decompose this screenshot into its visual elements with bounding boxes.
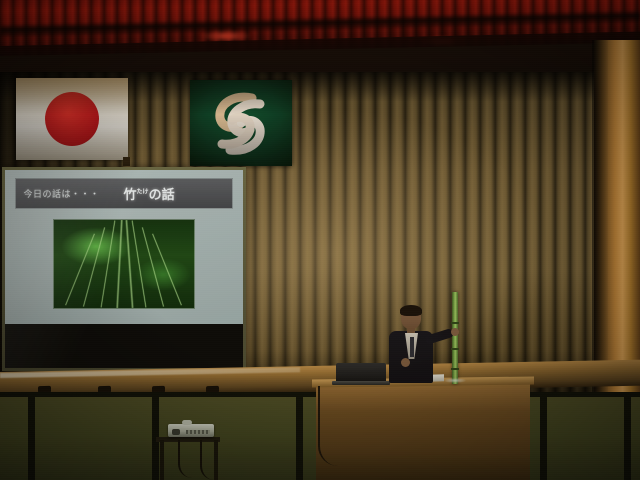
- laptop-base[interactable]: [332, 381, 390, 385]
- presenter-table: [316, 382, 530, 480]
- school-banner: [190, 80, 292, 166]
- projector-cable: [178, 440, 196, 478]
- wall-mullion: [540, 392, 547, 480]
- wall-mullion: [296, 392, 303, 480]
- japan-flag: [16, 78, 128, 160]
- laptop-screen[interactable]: [336, 363, 386, 382]
- proscenium-shadow: [592, 40, 608, 410]
- wall-mullion: [152, 392, 159, 480]
- projector-stand-leg: [160, 440, 164, 480]
- projector-lens-icon: [172, 429, 180, 435]
- bamboo-stalk: [452, 292, 458, 384]
- bamboo-node: [451, 348, 459, 350]
- flag-mount: [123, 157, 130, 166]
- screen-surface: 今日の話は・・・ 竹たけの話: [5, 170, 243, 368]
- auditorium-scene: 今日の話は・・・ 竹たけの話: [0, 0, 640, 480]
- projector-cable: [200, 440, 224, 480]
- wall-mullion: [28, 392, 35, 480]
- screen-sheen: [5, 170, 243, 368]
- banner-shading: [190, 80, 292, 166]
- presenter: [383, 306, 441, 384]
- presenter-hand-holding-bamboo: [451, 328, 459, 336]
- projection-screen: 今日の話は・・・ 竹たけの話: [2, 167, 246, 371]
- bamboo-base-highlight: [444, 378, 466, 383]
- projector-knob: [182, 420, 192, 425]
- projector-vent: [186, 430, 210, 434]
- wall-mullion: [624, 392, 631, 480]
- flag-shading: [16, 78, 128, 160]
- presenter-tie: [410, 337, 414, 357]
- table-cable: [318, 386, 344, 466]
- presenter-hair: [400, 305, 422, 316]
- presenter-hand: [401, 358, 410, 367]
- bamboo-node: [451, 368, 459, 370]
- bamboo-node: [451, 322, 459, 324]
